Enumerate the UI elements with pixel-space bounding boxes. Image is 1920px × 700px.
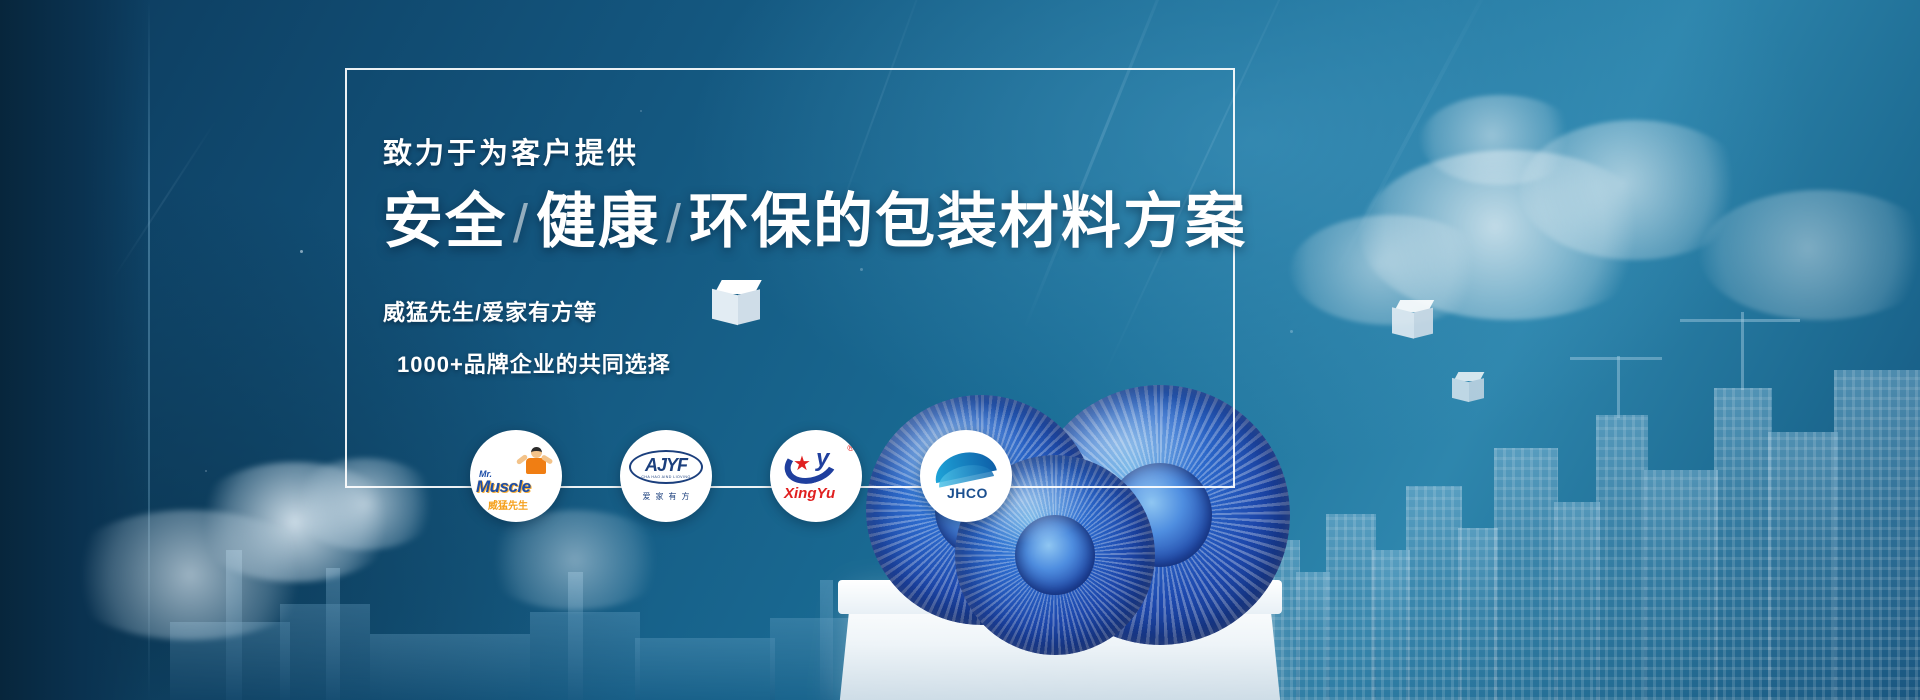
xingyu-y-letter: y (816, 447, 829, 471)
city-skyline (1200, 270, 1920, 700)
crane-mast (1617, 356, 1620, 418)
crane-jib (1680, 319, 1800, 322)
jhco-artwork: JHCO (927, 447, 1005, 505)
tagline-line-1: 威猛先生/爱家有方等 (383, 295, 1243, 327)
dust-speck (300, 250, 303, 253)
muscle-man-icon (523, 447, 549, 481)
crane-mast (1741, 312, 1744, 390)
tagline-block: 威猛先生/爱家有方等 1000+品牌企业的共同选择 (383, 295, 1243, 379)
logo-jhco[interactable]: JHCO (920, 430, 1012, 522)
headline-part-2: 健康 (536, 188, 660, 255)
xingyu-latin: XingYu (784, 485, 835, 502)
eyebrow-text: 致力于为客户提供 (383, 130, 1243, 172)
page-title: 安全/健康/环保的包装材料方案 (383, 190, 1243, 253)
headline-part-1: 安全 (383, 188, 507, 255)
mr-muscle-muscle: Muscle (476, 477, 531, 497)
ajyf-letters: AJYF (645, 456, 687, 474)
logo-mr-muscle[interactable]: Mr. Muscle 威猛先生 (470, 430, 562, 522)
cloud (1420, 95, 1580, 185)
headline-separator-1: / (507, 194, 536, 254)
ajyf-subtitle: CHA HAO AIND LIOVING (641, 475, 690, 479)
headline-part-3: 环保的包装材料方案 (689, 188, 1247, 255)
logo-ajyf[interactable]: AJYF CHA HAO AIND LIOVING 爱家有方 (620, 430, 712, 522)
copy-block: 致力于为客户提供 安全/健康/环保的包装材料方案 威猛先生/爱家有方等 1000… (383, 130, 1243, 379)
smoke-plume (60, 510, 320, 640)
xingyu-arc-icon (779, 438, 842, 491)
crane-jib (1570, 357, 1662, 360)
ajyf-oval-mark: AJYF CHA HAO AIND LIOVING (629, 450, 703, 484)
mr-muscle-artwork: Mr. Muscle 威猛先生 (473, 433, 559, 519)
xingyu-artwork: ★ y ® XingYu (776, 439, 856, 513)
mr-muscle-cn: 威猛先生 (488, 497, 528, 512)
hero-banner: 致力于为客户提供 安全/健康/环保的包装材料方案 威猛先生/爱家有方等 1000… (0, 0, 1920, 700)
headline-separator-2: / (660, 194, 689, 254)
star-icon: ★ (793, 454, 811, 474)
dust-speck (205, 470, 207, 472)
cloud (1290, 215, 1490, 325)
floating-cube (1392, 300, 1436, 344)
ajyf-cn: 爱家有方 (638, 491, 695, 502)
jhco-latin: JHCO (947, 485, 988, 501)
tagline-line-2: 1000+品牌企业的共同选择 (397, 347, 1243, 379)
logo-xingyu[interactable]: ★ y ® XingYu (770, 430, 862, 522)
floating-cube (1452, 372, 1486, 406)
registered-icon: ® (847, 443, 854, 453)
brand-logo-row: Mr. Muscle 威猛先生 AJYF CHA HAO AIND LIOVIN… (470, 430, 1012, 522)
smoke-plume (480, 510, 670, 610)
